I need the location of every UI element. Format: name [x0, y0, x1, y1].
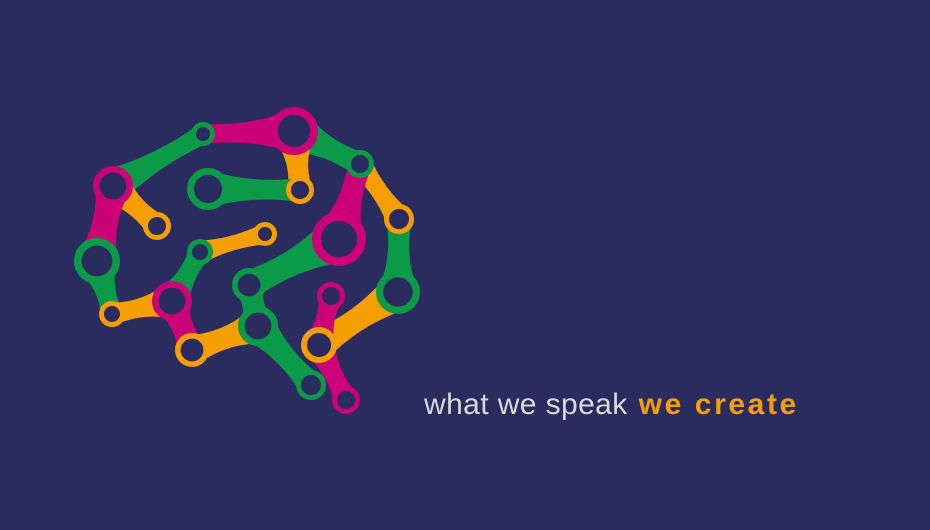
logo-node-ring — [299, 373, 324, 398]
logo-node-ring — [335, 389, 358, 412]
logo-node-ring — [320, 285, 343, 308]
logo-node-layer — [78, 111, 417, 412]
logo-node-ring — [349, 153, 372, 176]
logo-node-ring — [387, 207, 412, 232]
tagline-accent-text: we create — [639, 390, 799, 420]
logo-node-ring — [304, 330, 334, 360]
logo-node-ring — [155, 284, 188, 317]
brain-logo-svg — [55, 95, 440, 435]
logo-node-ring — [256, 225, 275, 244]
logo-node-ring — [289, 179, 312, 202]
logo-node-ring — [316, 216, 361, 261]
logo-node-ring — [241, 309, 274, 342]
tagline-light-text: what we speak — [424, 390, 628, 420]
logo-node-ring — [146, 215, 169, 238]
logo-node-ring — [380, 274, 417, 311]
logo-node-ring — [178, 336, 206, 364]
brain-logo — [55, 95, 440, 435]
splash-screen: what we speak we create — [0, 0, 930, 530]
logo-node-ring — [190, 171, 225, 206]
logo-node-ring — [235, 271, 263, 299]
tagline: what we speak we create — [424, 390, 799, 426]
logo-node-ring — [194, 125, 213, 144]
logo-node-ring — [274, 111, 314, 151]
logo-node-ring — [190, 242, 211, 263]
logo-node-ring — [102, 304, 123, 325]
logo-node-ring — [78, 242, 116, 280]
logo-node-ring — [96, 169, 129, 202]
